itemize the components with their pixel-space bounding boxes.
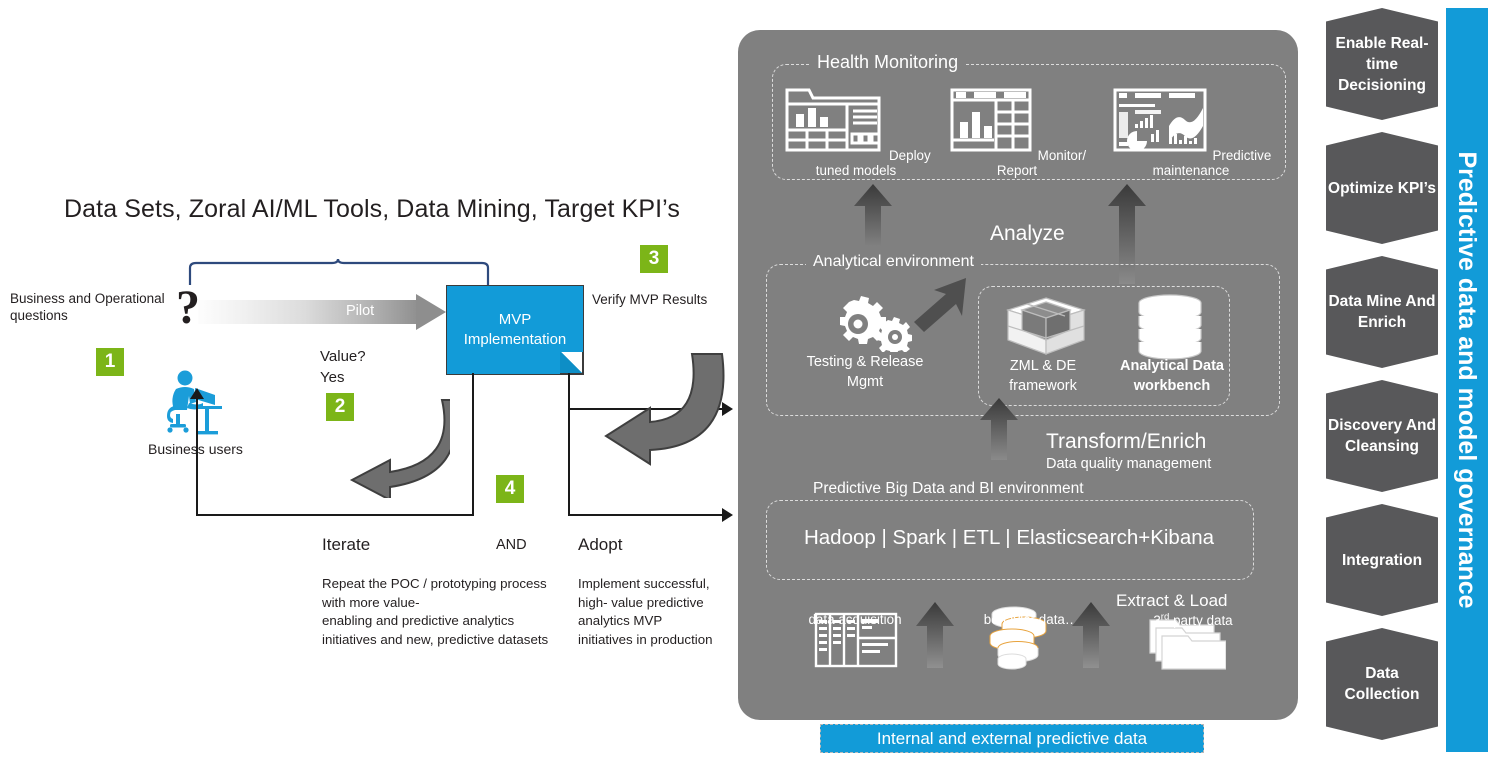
chevron-enable-realtime[interactable]: Enable Real-time Decisioning: [1326, 8, 1438, 120]
step-badge-3: 3: [640, 245, 668, 273]
chevron-discovery-cleansing[interactable]: Discovery And Cleansing: [1326, 380, 1438, 492]
cube-icon: [1004, 296, 1088, 360]
bigdata-stack-label: Hadoop | Spark | ETL | Elasticsearch+Kib…: [766, 526, 1252, 550]
pilot-arrow-body: [198, 300, 420, 324]
mvp-down-connector: [472, 373, 474, 516]
analytics-dashboard-icon: [1111, 84, 1209, 156]
third-party-data-text: 3rd party data: [1153, 613, 1232, 628]
adopt-title: Adopt: [578, 535, 622, 555]
chevron-data-collection[interactable]: Data Collection: [1326, 628, 1438, 740]
testing-release-label: Testing & Release Mgmt: [790, 352, 940, 392]
extract-load-label: Extract & Load: [1116, 591, 1228, 611]
bigdata-title: Predictive Big Data and BI environment: [806, 480, 1091, 498]
business-questions-label: Business and Operational questions: [10, 290, 190, 324]
question-mark-icon: ?: [176, 288, 200, 328]
adopt-connector-horizontal: [568, 514, 730, 516]
report-chart-icon: [948, 84, 1034, 156]
governance-band-label: Predictive data and model governance: [1446, 8, 1488, 752]
mvp-box-fold-corner: [560, 352, 583, 374]
transform-enrich-title: Transform/Enrich: [1046, 430, 1206, 454]
analytical-environment-title: Analytical environment: [806, 253, 981, 271]
business-user-icon: [162, 370, 226, 440]
iterate-arrow-head-icon: [190, 388, 204, 399]
growth-arrow-icon: [906, 276, 968, 334]
gears-icon: [828, 296, 912, 352]
chevron-integration[interactable]: Integration: [1326, 504, 1438, 616]
step-badge-1: 1: [96, 348, 124, 376]
health-item-predictive[interactable]: Predictive maintenance: [1098, 84, 1284, 178]
page-title: Data Sets, Zoral AI/ML Tools, Data Minin…: [64, 195, 680, 224]
up-arrow-to-analytical-icon: [980, 398, 1018, 460]
internal-external-data-bar: Internal and external predictive data: [820, 724, 1204, 753]
adopt-connector-vertical: [568, 373, 570, 516]
dashboard-icon: [781, 84, 885, 156]
up-arrow-behavior-icon: [1072, 602, 1110, 668]
health-item-deploy[interactable]: Deploy tuned models: [772, 84, 940, 178]
step-badge-4: 4: [496, 475, 524, 503]
iterate-connector-horizontal: [196, 514, 474, 516]
iterate-description: Repeat the POC / prototyping process wit…: [322, 575, 552, 649]
pilot-arrow-head: [416, 294, 446, 330]
verify-curved-arrow-icon: [586, 352, 726, 472]
health-item-monitor[interactable]: Monitor/ Report: [944, 84, 1090, 178]
pilot-label: Pilot: [346, 303, 374, 319]
data-acquisition-label: data acquisition: [772, 612, 938, 627]
scope-bracket: [188, 258, 490, 286]
pilot-arrow: Pilot: [198, 294, 448, 330]
chevron-data-mine-enrich[interactable]: Data Mine And Enrich: [1326, 256, 1438, 368]
iterate-connector-vertical: [196, 396, 198, 516]
up-arrow-to-deploy-icon: [854, 184, 892, 246]
value-yes-label: Value? Yes: [320, 346, 366, 388]
iterate-curved-arrow-icon: [330, 398, 450, 498]
database-stack-icon: [1134, 294, 1206, 360]
data-quality-subtitle: Data quality management: [1046, 456, 1211, 472]
analyze-title: Analyze: [990, 222, 1065, 246]
iterate-title: Iterate: [322, 535, 370, 555]
chevron-optimize-kpis[interactable]: Optimize KPI’s: [1326, 132, 1438, 244]
health-monitoring-title: Health Monitoring: [810, 52, 965, 73]
analytical-data-workbench-label[interactable]: Analytical Data workbench: [1112, 356, 1232, 396]
adopt-description: Implement successful, high- value predic…: [578, 575, 718, 649]
third-party-data-label: 3rd party data: [1118, 612, 1268, 628]
verify-mvp-results-label: Verify MVP Results: [592, 292, 707, 307]
and-label: AND: [496, 537, 527, 553]
zml-de-framework-label[interactable]: ZML & DE framework: [988, 356, 1098, 396]
adopt-arrow-head-icon: [722, 508, 733, 522]
